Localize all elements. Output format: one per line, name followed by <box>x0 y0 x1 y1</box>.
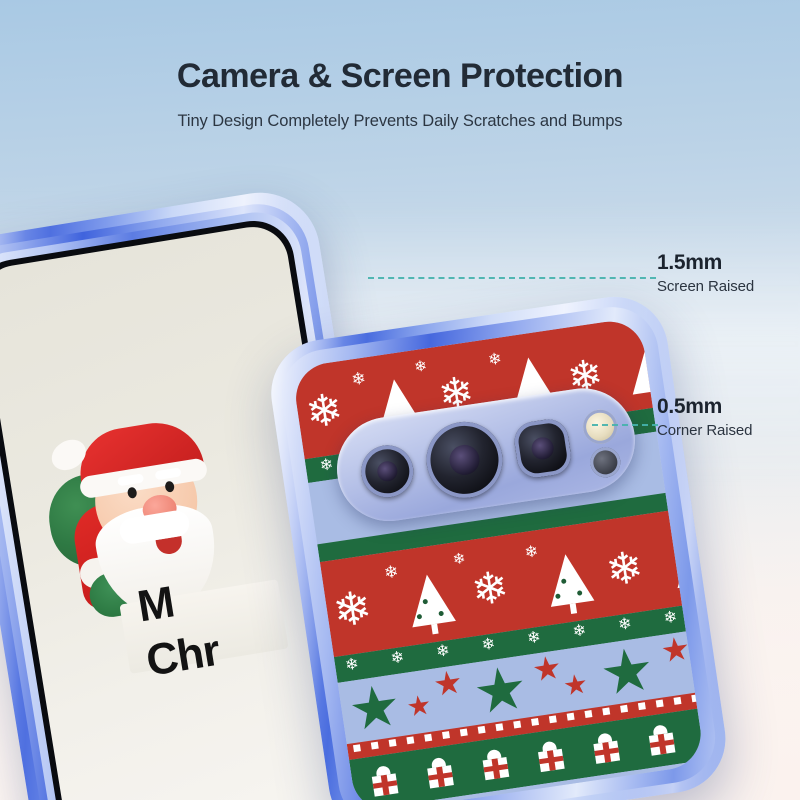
camera-lens-2 <box>421 417 507 503</box>
leader-line-corner-raised <box>592 424 658 426</box>
callout-label: Screen Raised <box>657 278 754 295</box>
star-icon <box>532 654 562 684</box>
star-icon <box>349 683 401 735</box>
snowflake-icon: ❄ <box>350 370 367 389</box>
tree-icon <box>405 571 456 627</box>
callout-screen-raised: 1.5mm Screen Raised <box>657 252 754 295</box>
snowflake-icon: ❄ <box>469 565 512 614</box>
snowflake-icon: ❄ <box>572 623 588 641</box>
gift-icon <box>649 732 676 755</box>
snowflake-icon: ❄ <box>390 650 406 668</box>
star-icon <box>600 645 654 699</box>
callout-value: 0.5mm <box>657 396 752 418</box>
header: Camera & Screen Protection Tiny Design C… <box>0 58 800 131</box>
page-subtitle: Tiny Design Completely Prevents Daily Sc… <box>0 112 800 131</box>
back-phone-pattern: ❄ ❄ ❄ ❄ ❄ ❄ ❄ ❄ ❄ ❄ ❄ ❄ ❄ <box>291 317 705 800</box>
camera-lens-1 <box>358 442 417 501</box>
snowflake-icon: ❄ <box>435 643 451 661</box>
leader-line-screen-raised <box>368 277 656 279</box>
tree-trunk <box>431 624 438 635</box>
star-icon <box>433 669 463 699</box>
gift-icon <box>483 757 510 780</box>
page-title: Camera & Screen Protection <box>0 58 800 95</box>
snowflake-icon: ❄ <box>319 457 335 475</box>
snowflake-icon: ❄ <box>383 563 400 582</box>
camera-sensor-icon <box>588 445 622 479</box>
snowflake-icon: ❄ <box>452 551 467 568</box>
snowflake-icon: ❄ <box>413 358 428 375</box>
snowflake-icon: ❄ <box>303 387 346 436</box>
star-icon <box>563 673 588 698</box>
snowflake-icon: ❄ <box>481 636 497 654</box>
callout-corner-raised: 0.5mm Corner Raised <box>657 396 752 439</box>
gift-icon <box>427 765 454 788</box>
product-marketing-image: Camera & Screen Protection Tiny Design C… <box>0 0 800 800</box>
snowflake-icon: ❄ <box>487 351 503 369</box>
tree-icon <box>544 551 595 607</box>
snowflake-icon: ❄ <box>663 610 679 628</box>
callout-value: 1.5mm <box>657 252 754 274</box>
star-icon <box>473 664 527 718</box>
snowflake-icon: ❄ <box>603 545 646 594</box>
camera-flash-icon <box>581 407 620 446</box>
star-icon <box>661 635 691 665</box>
tree-trunk <box>570 603 577 614</box>
snowflake-icon: ❄ <box>617 616 633 634</box>
callout-label: Corner Raised <box>657 422 752 439</box>
back-phone: ❄ ❄ ❄ ❄ ❄ ❄ ❄ ❄ ❄ ❄ ❄ ❄ ❄ <box>264 290 733 800</box>
snowflake-icon: ❄ <box>526 630 542 648</box>
snowflake-icon: ❄ <box>524 544 540 562</box>
gift-icon <box>372 773 399 796</box>
gift-icon <box>593 741 620 764</box>
snowflake-icon: ❄ <box>344 657 360 675</box>
star-icon <box>407 694 432 719</box>
gift-icon <box>538 749 565 772</box>
camera-lens-3 <box>512 417 574 480</box>
snowflake-icon: ❄ <box>330 583 375 634</box>
